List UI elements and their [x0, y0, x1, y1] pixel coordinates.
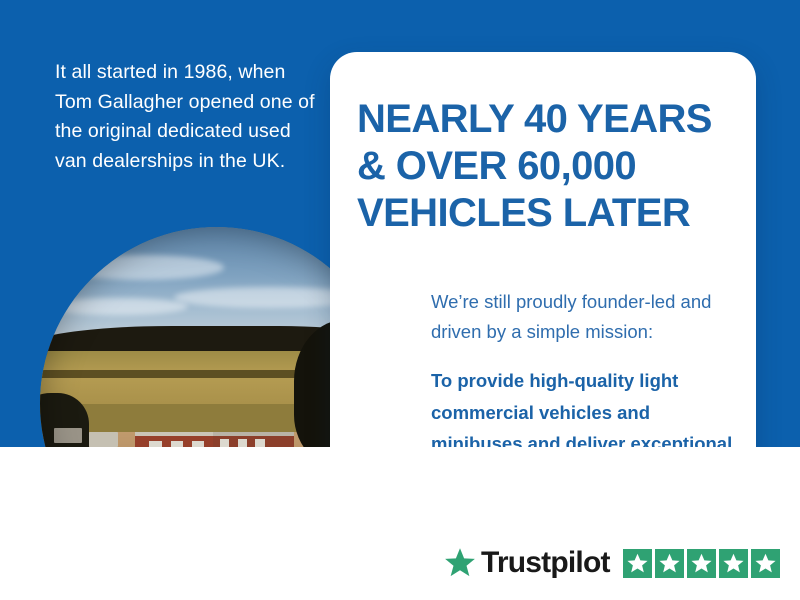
star-icon	[690, 552, 713, 575]
star-tile[interactable]	[655, 549, 684, 578]
trustpilot-rating[interactable]: Trustpilot	[443, 546, 780, 580]
star-icon	[626, 552, 649, 575]
star-rating[interactable]	[623, 549, 780, 578]
trustpilot-wordmark: Trustpilot	[481, 548, 610, 578]
promo-banner: It all started in 1986, when Tom Gallagh…	[0, 0, 800, 600]
star-tile[interactable]	[687, 549, 716, 578]
trustpilot-bar: Trustpilot	[0, 447, 800, 600]
star-icon	[658, 552, 681, 575]
star-icon	[722, 552, 745, 575]
subheading-text: We’re still proudly founder-led and driv…	[431, 287, 741, 347]
star-icon	[754, 552, 777, 575]
star-tile[interactable]	[719, 549, 748, 578]
star-tile[interactable]	[623, 549, 652, 578]
trustpilot-star-icon	[443, 546, 477, 580]
page-title: NEARLY 40 YEARS & OVER 60,000 VEHICLES L…	[357, 96, 749, 237]
star-tile[interactable]	[751, 549, 780, 578]
trustpilot-logo[interactable]: Trustpilot	[443, 546, 610, 580]
intro-paragraph: It all started in 1986, when Tom Gallagh…	[55, 58, 317, 176]
